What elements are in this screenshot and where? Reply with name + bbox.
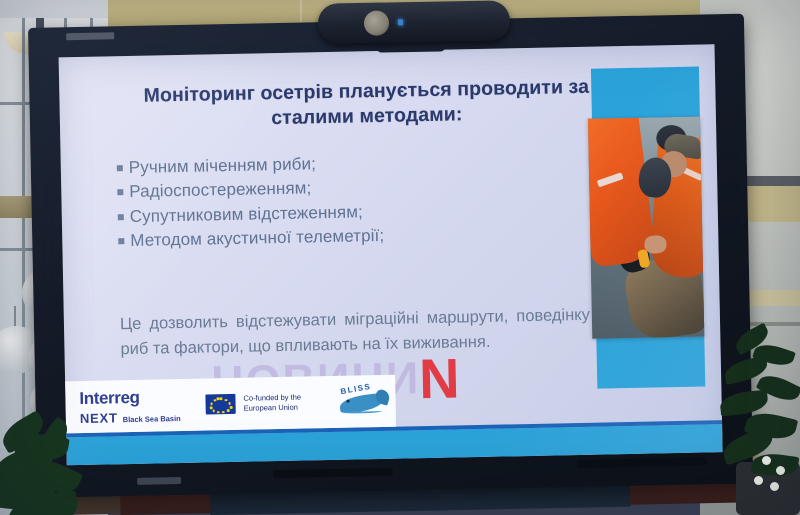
list-item-label: Радіоспостереженням;: [129, 177, 311, 205]
slide-bullet-list: Ручним міченням риби; Радіоспостереження…: [117, 147, 589, 254]
room-scene: Моніторинг осетрів планується проводити …: [0, 0, 800, 515]
tv-indicator-lights: [137, 477, 181, 485]
tv-brand-label: [66, 32, 114, 40]
square-bullet-icon: [118, 239, 124, 245]
slide-title: Моніторинг осетрів планується проводити …: [131, 75, 602, 134]
television: Моніторинг осетрів планується проводити …: [28, 14, 753, 498]
square-bullet-icon: [118, 214, 124, 220]
slide-paragraph: Це дозволить відстежувати міграційні мар…: [120, 303, 591, 363]
slide-photo: [588, 117, 704, 339]
photo-hand: [644, 235, 666, 253]
next-subtitle: Black Sea Basin: [123, 414, 181, 424]
plant-left: [0, 410, 130, 515]
list-item-label: Методом акустичної телеметрії;: [130, 224, 384, 254]
square-bullet-icon: [117, 190, 123, 196]
eu-flag-icon: [205, 394, 235, 415]
presentation-slide: Моніторинг осетрів планується проводити …: [59, 44, 723, 465]
videobar-camera: [318, 0, 511, 43]
window-mullion: [22, 18, 25, 448]
eu-funding-text: Co-funded by the European Union: [243, 392, 329, 413]
camera-lens-icon: [364, 10, 389, 35]
square-bullet-icon: [117, 165, 123, 171]
list-item-label: Ручним міченням риби;: [129, 152, 317, 180]
status-led-icon: [398, 19, 403, 25]
interreg-wordmark: Interreg: [79, 386, 197, 408]
wave-icon: [342, 409, 382, 414]
tv-screen: Моніторинг осетрів планується проводити …: [59, 44, 723, 465]
plant-right: [718, 330, 800, 515]
bliss-logo: BLISS: [337, 384, 390, 419]
fish-eye-icon: [347, 400, 350, 403]
